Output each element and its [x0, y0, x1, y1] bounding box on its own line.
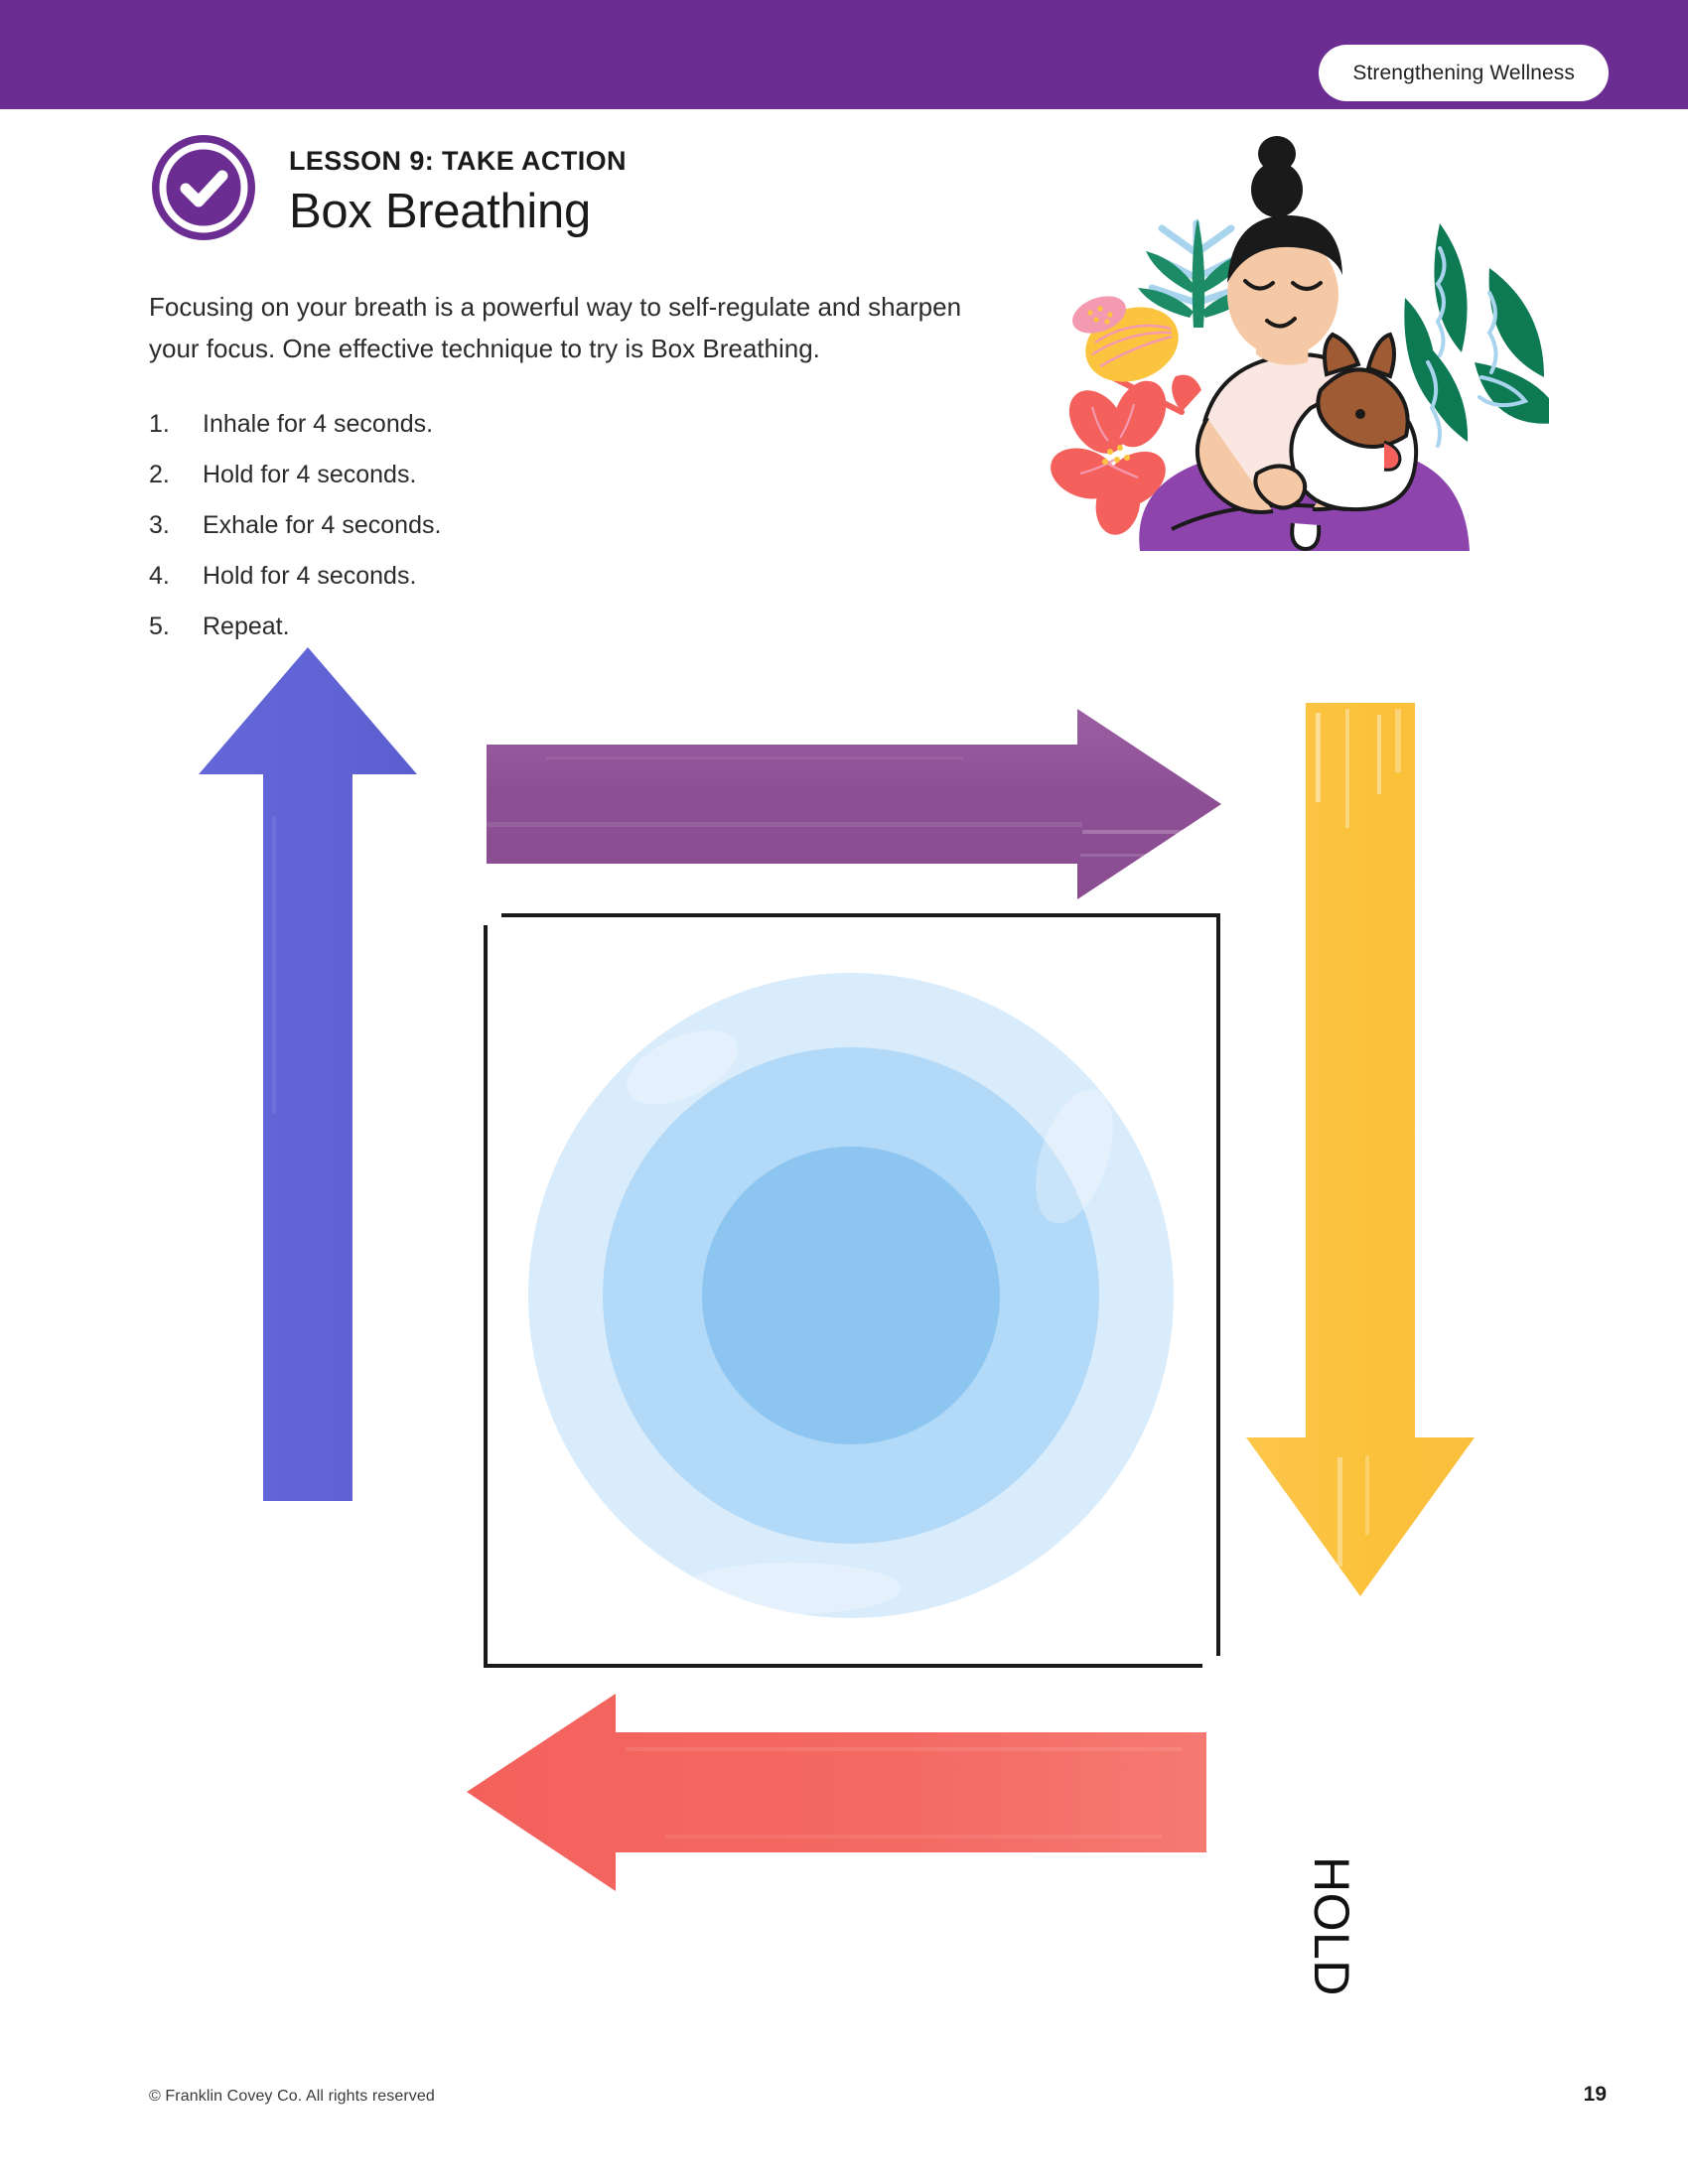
arrow-inhale [487, 705, 1221, 903]
list-item-label: Hold for 4 seconds. [203, 461, 416, 489]
lesson-header: LESSON 9: TAKE ACTION Box Breathing [151, 139, 627, 240]
page-number: 19 [1584, 2083, 1607, 2107]
list-item-label: Inhale for 4 seconds. [203, 410, 433, 439]
list-item-number: 4. [149, 562, 203, 591]
list-item-number: 3. [149, 511, 203, 540]
arrow-hold-left [199, 647, 417, 1501]
breathing-box-outline [484, 913, 1220, 1668]
list-item: 1. Inhale for 4 seconds. [149, 410, 784, 439]
steps-list: 1. Inhale for 4 seconds. 2. Hold for 4 s… [149, 410, 784, 663]
box-edge-left [484, 925, 488, 1668]
lesson-eyebrow: LESSON 9: TAKE ACTION [289, 148, 627, 175]
copyright-text: © Franklin Covey Co. All rights reserved [149, 2088, 435, 2106]
woman-sitting-with-dog-and-plants-illustration [1023, 124, 1549, 551]
box-edge-right [1216, 913, 1220, 1656]
arrow-exhale [467, 1688, 1206, 1896]
section-label-pill: Strengthening Wellness [1319, 45, 1609, 101]
list-item: 5. Repeat. [149, 613, 784, 641]
section-label-text: Strengthening Wellness [1352, 62, 1575, 85]
box-edge-top [501, 913, 1220, 917]
arrow-hold-right-label: HOLD [1303, 1856, 1360, 1996]
list-item-label: Exhale for 4 seconds. [203, 511, 441, 540]
page-title: Box Breathing [289, 187, 627, 238]
list-item-label: Hold for 4 seconds. [203, 562, 416, 591]
list-item: 3. Exhale for 4 seconds. [149, 511, 784, 540]
list-item: 4. Hold for 4 seconds. [149, 562, 784, 591]
list-item-number: 5. [149, 613, 203, 641]
list-item: 2. Hold for 4 seconds. [149, 461, 784, 489]
page: Strengthening Wellness LESSON 9: TAKE AC… [0, 0, 1688, 2184]
intro-paragraph: Focusing on your breath is a powerful wa… [149, 286, 1003, 369]
box-edge-bottom [484, 1664, 1202, 1668]
lesson-title-block: LESSON 9: TAKE ACTION Box Breathing [289, 139, 627, 238]
list-item-number: 2. [149, 461, 203, 489]
check-circle-icon [151, 135, 256, 240]
list-item-number: 1. [149, 410, 203, 439]
list-item-label: Repeat. [203, 613, 290, 641]
arrow-hold-right [1246, 703, 1475, 1596]
arrow-hold-left-label: HOLD [234, 1746, 292, 1886]
